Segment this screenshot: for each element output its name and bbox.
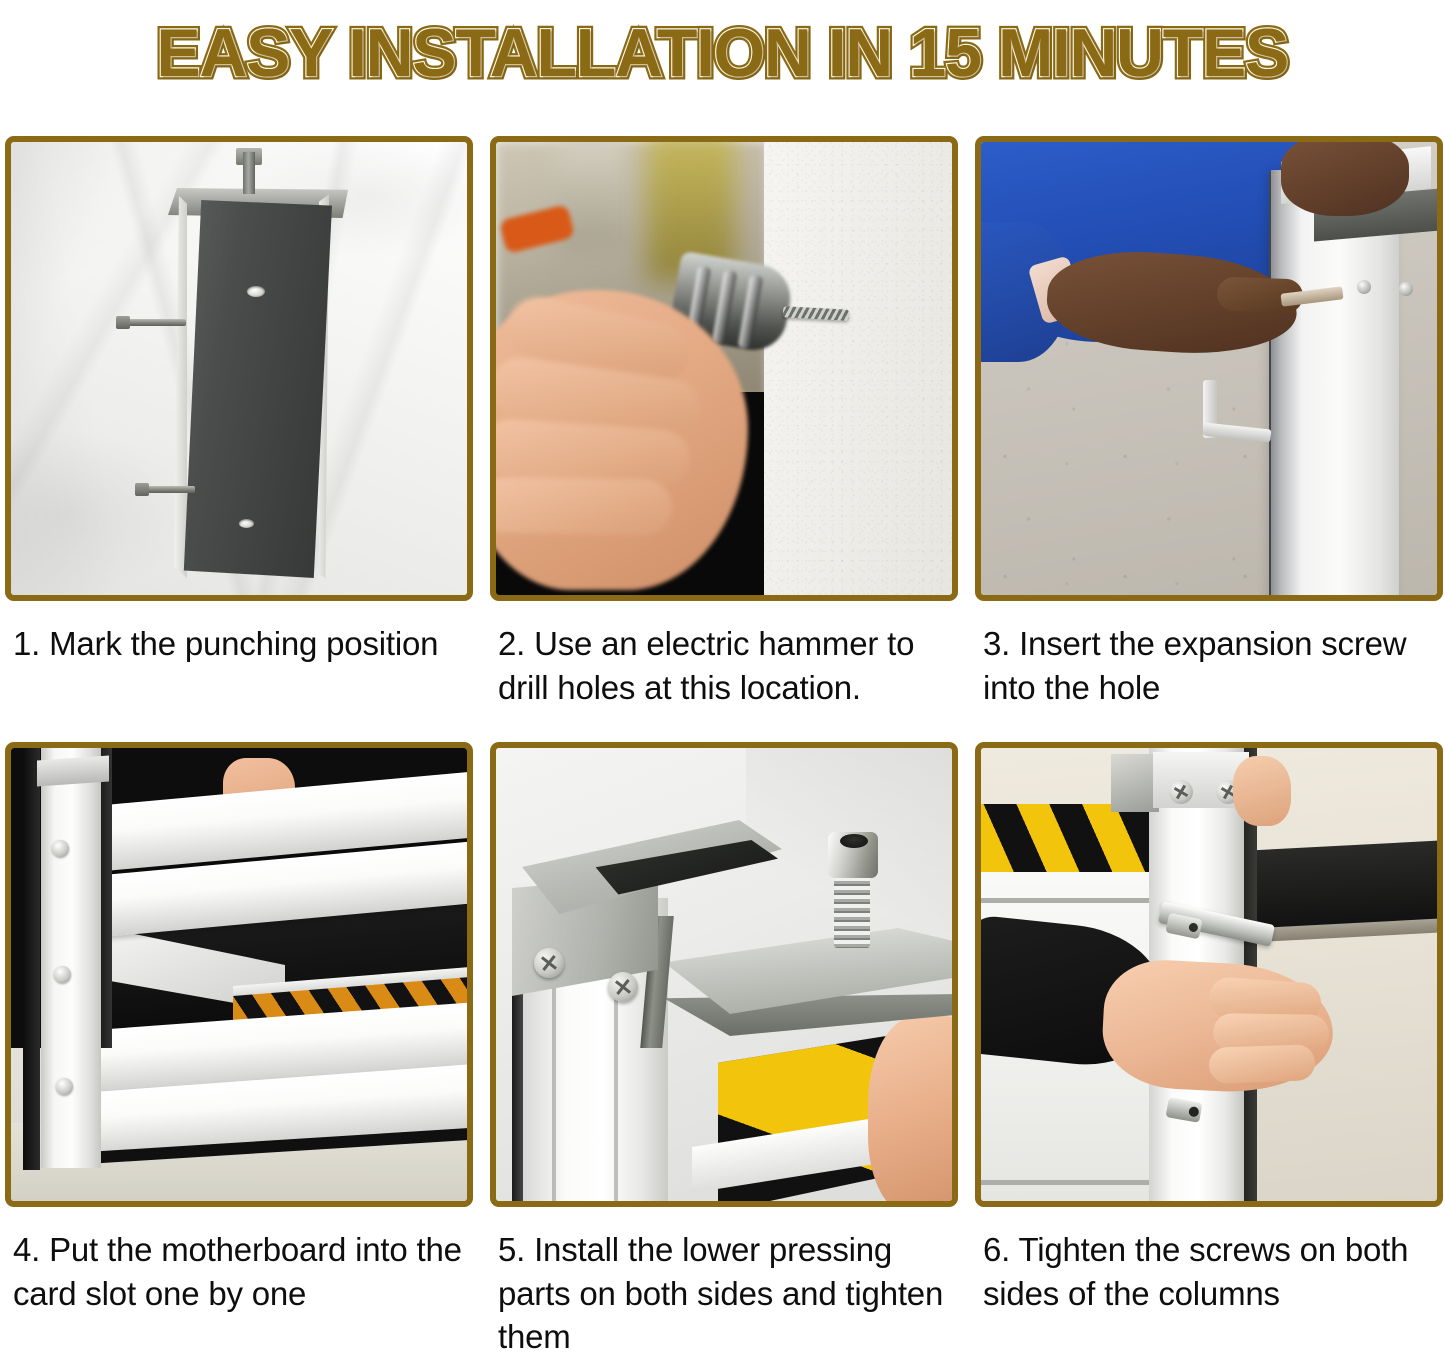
phillips-screw-1 [534,948,564,978]
cap-screw-1 [1169,780,1193,804]
bolt-upper-head [116,316,130,329]
column-screw-3 [56,1078,73,1095]
white-wall [764,142,952,595]
step-caption-2: 2. Use an electric hammer to drill holes… [498,622,956,709]
step-caption-6: 6. Tighten the screws on both sides of t… [983,1228,1441,1315]
step-card-2: 2. Use an electric hammer to drill holes… [490,136,958,716]
step-caption-3: 3. Insert the expansion screw into the h… [983,622,1441,709]
hazard-stripe-yellow [981,804,1151,872]
step-photo-6 [981,748,1437,1201]
bolt-upper [124,319,186,326]
step-caption-5: 5. Install the lower pressing parts on b… [498,1228,956,1352]
top-bracket [1111,754,1159,812]
infographic-page: EASY INSTALLATION IN 15 MINUTES [0,0,1445,1352]
step-photo-3 [981,142,1437,595]
bolt-lower-head [135,483,149,496]
bolt-lower [143,486,195,493]
steps-grid: 1. Mark the punching position [0,0,1445,1352]
worker-second-hand [1281,142,1409,216]
column-screw-1 [1357,280,1371,294]
hex-key-short-leg [1203,422,1272,442]
step-photo-4 [11,748,467,1201]
step-photo-frame-4 [5,742,473,1207]
phillips-screw-2 [608,972,638,1002]
bracket-hole-lower [239,519,254,528]
bracket-body [180,200,332,578]
bracket-hole-upper [247,286,265,297]
hex-key-on-floor [1199,380,1271,452]
upper-hand [1233,756,1291,826]
panel-seam-3 [981,1180,1171,1185]
threaded-rod [243,152,255,194]
step-photo-frame-6 [975,742,1443,1207]
step-photo-2 [496,142,952,595]
step-caption-1: 1. Mark the punching position [13,622,471,666]
thumb [868,1016,952,1201]
column-screw-2 [54,966,71,983]
white-column [41,748,101,1168]
step-card-5: 5. Install the lower pressing parts on b… [490,742,958,1342]
step-card-6: 6. Tighten the screws on both sides of t… [975,742,1443,1342]
step-photo-1 [11,142,467,595]
column-screw-1 [52,840,69,857]
panel-seam-1 [981,898,1171,903]
column-outer-shadow [23,748,40,1170]
finger-3 [1208,1044,1315,1084]
column-screw-2 [1399,282,1413,296]
step-card-3: 3. Insert the expansion screw into the h… [975,136,1443,716]
step-card-1: 1. Mark the punching position [5,136,473,716]
step-photo-frame-5 [490,742,958,1207]
step-photo-5 [496,748,952,1201]
step-photo-frame-1 [5,136,473,601]
step-card-4: 4. Put the motherboard into the card slo… [5,742,473,1342]
step-photo-frame-3 [975,136,1443,601]
step-photo-frame-2 [490,136,958,601]
step-caption-4: 4. Put the motherboard into the card slo… [13,1228,471,1315]
finger-4 [496,476,672,535]
column-top-cap [37,755,109,786]
thumb-bolt-socket [840,834,868,848]
thumb-bolt-thread [834,868,870,948]
